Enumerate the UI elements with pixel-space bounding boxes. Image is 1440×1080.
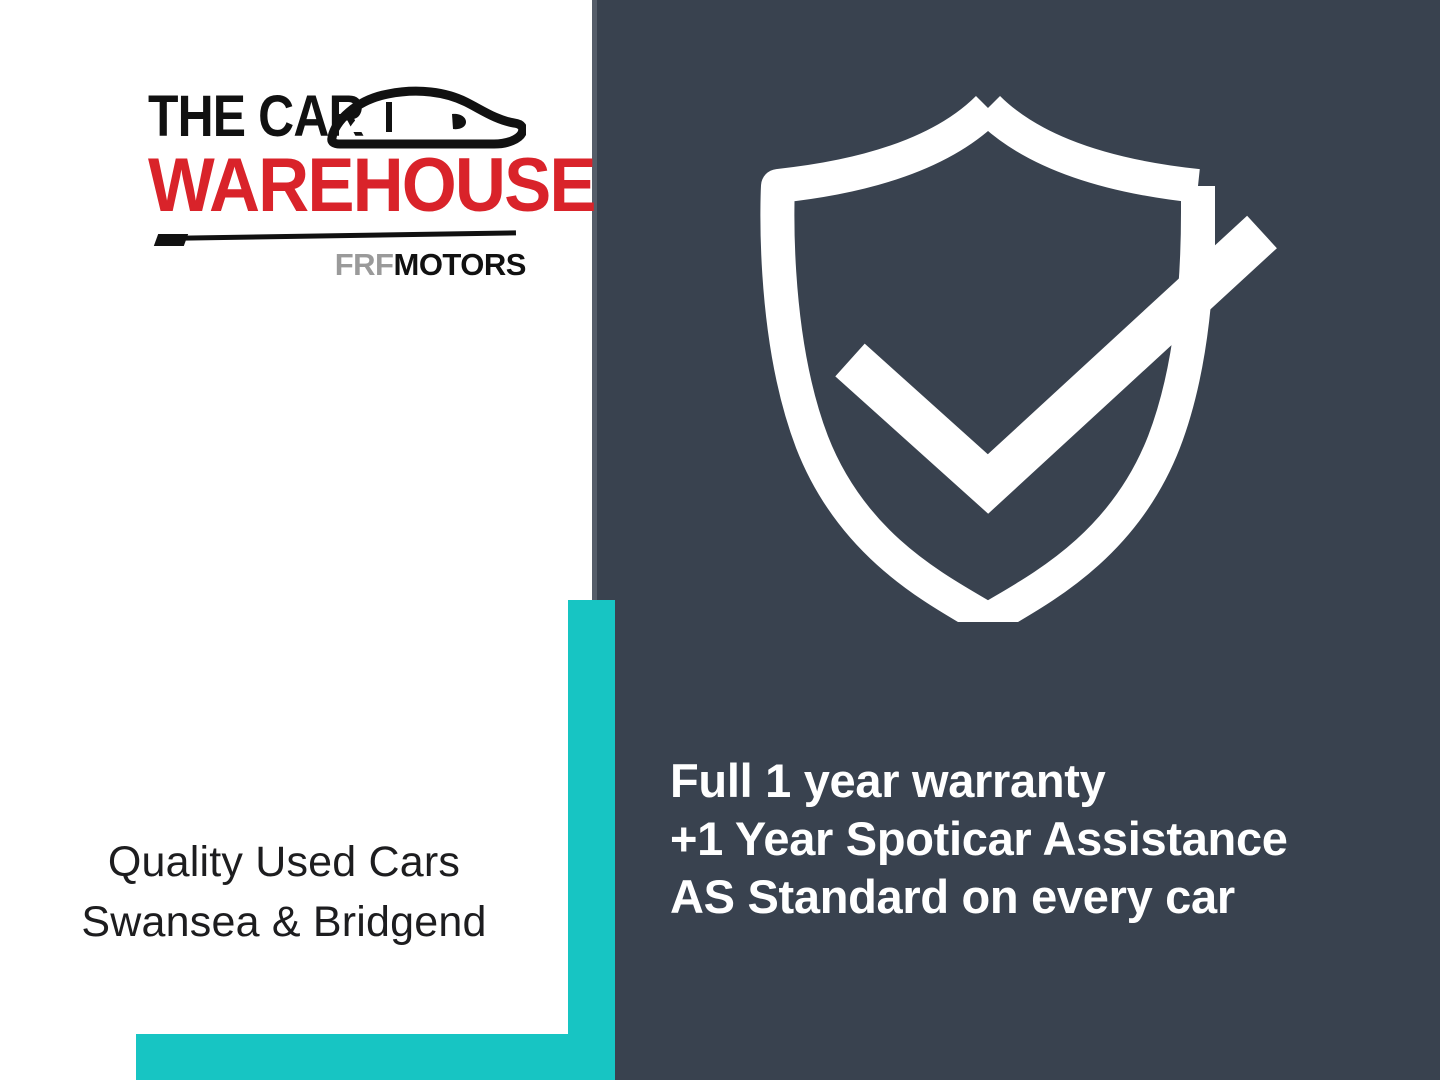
logo-top-row: THE CAR (148, 88, 528, 150)
logo-sub-frfmotors: FRFMOTORS (335, 248, 526, 282)
logo-underline-rule (160, 230, 516, 241)
tagline: Quality Used Cars Swansea & Bridgend (0, 832, 568, 952)
promo-line-1: Full 1 year warranty (670, 752, 1410, 810)
logo-sub-motors: MOTORS (394, 247, 527, 282)
promo-line-3: AS Standard on every car (670, 868, 1410, 926)
promo-banner: THE CAR WAREHOUSE FRFMOTORS Quality Used… (0, 0, 1440, 1080)
shield-check-icon (742, 92, 1282, 622)
tagline-line-1: Quality Used Cars (0, 832, 568, 892)
brand-logo[interactable]: THE CAR WAREHOUSE FRFMOTORS (148, 88, 528, 283)
promo-line-2: +1 Year Spoticar Assistance (670, 810, 1410, 868)
tagline-line-2: Swansea & Bridgend (0, 892, 568, 952)
teal-accent-vertical-bar (568, 600, 615, 1080)
logo-sub-frf: FRF (335, 247, 394, 282)
teal-accent-horizontal-bar (136, 1034, 615, 1080)
promo-headline: Full 1 year warranty +1 Year Spoticar As… (670, 752, 1410, 926)
logo-line-warehouse: WAREHOUSE (148, 146, 595, 226)
